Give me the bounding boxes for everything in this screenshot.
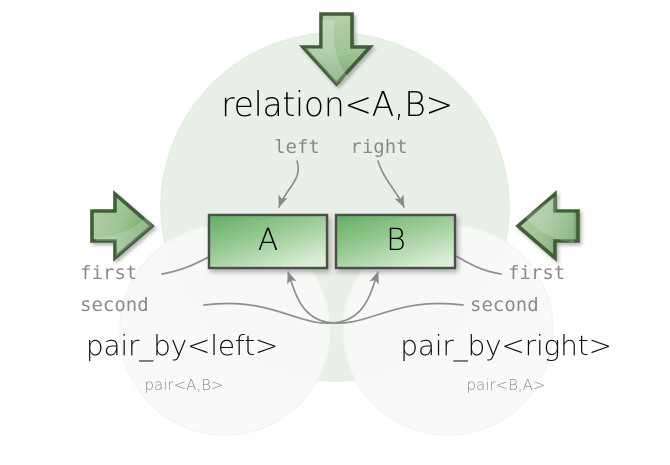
box-a-label: A [258, 226, 279, 256]
label-left: left [274, 138, 320, 157]
pair-right-type: pair<B,A> [466, 378, 545, 393]
pair-left-type: pair<A,B> [144, 378, 223, 393]
label-left-second: second [80, 296, 149, 315]
pair-by-right-title: pair_by<right> [400, 332, 612, 360]
label-right: right [350, 138, 407, 157]
diagram-vector-layer [0, 0, 670, 465]
diagram-canvas: relation<A,B> left right A B first secon… [0, 0, 670, 465]
label-right-first: first [508, 264, 565, 283]
block-arrow-right [92, 194, 152, 258]
label-right-second: second [470, 296, 539, 315]
block-arrow-left [518, 194, 578, 258]
label-left-first: first [80, 264, 137, 283]
pair-by-left-title: pair_by<left> [86, 332, 278, 360]
relation-title: relation<A,B> [221, 88, 453, 122]
box-b-label: B [386, 226, 406, 256]
